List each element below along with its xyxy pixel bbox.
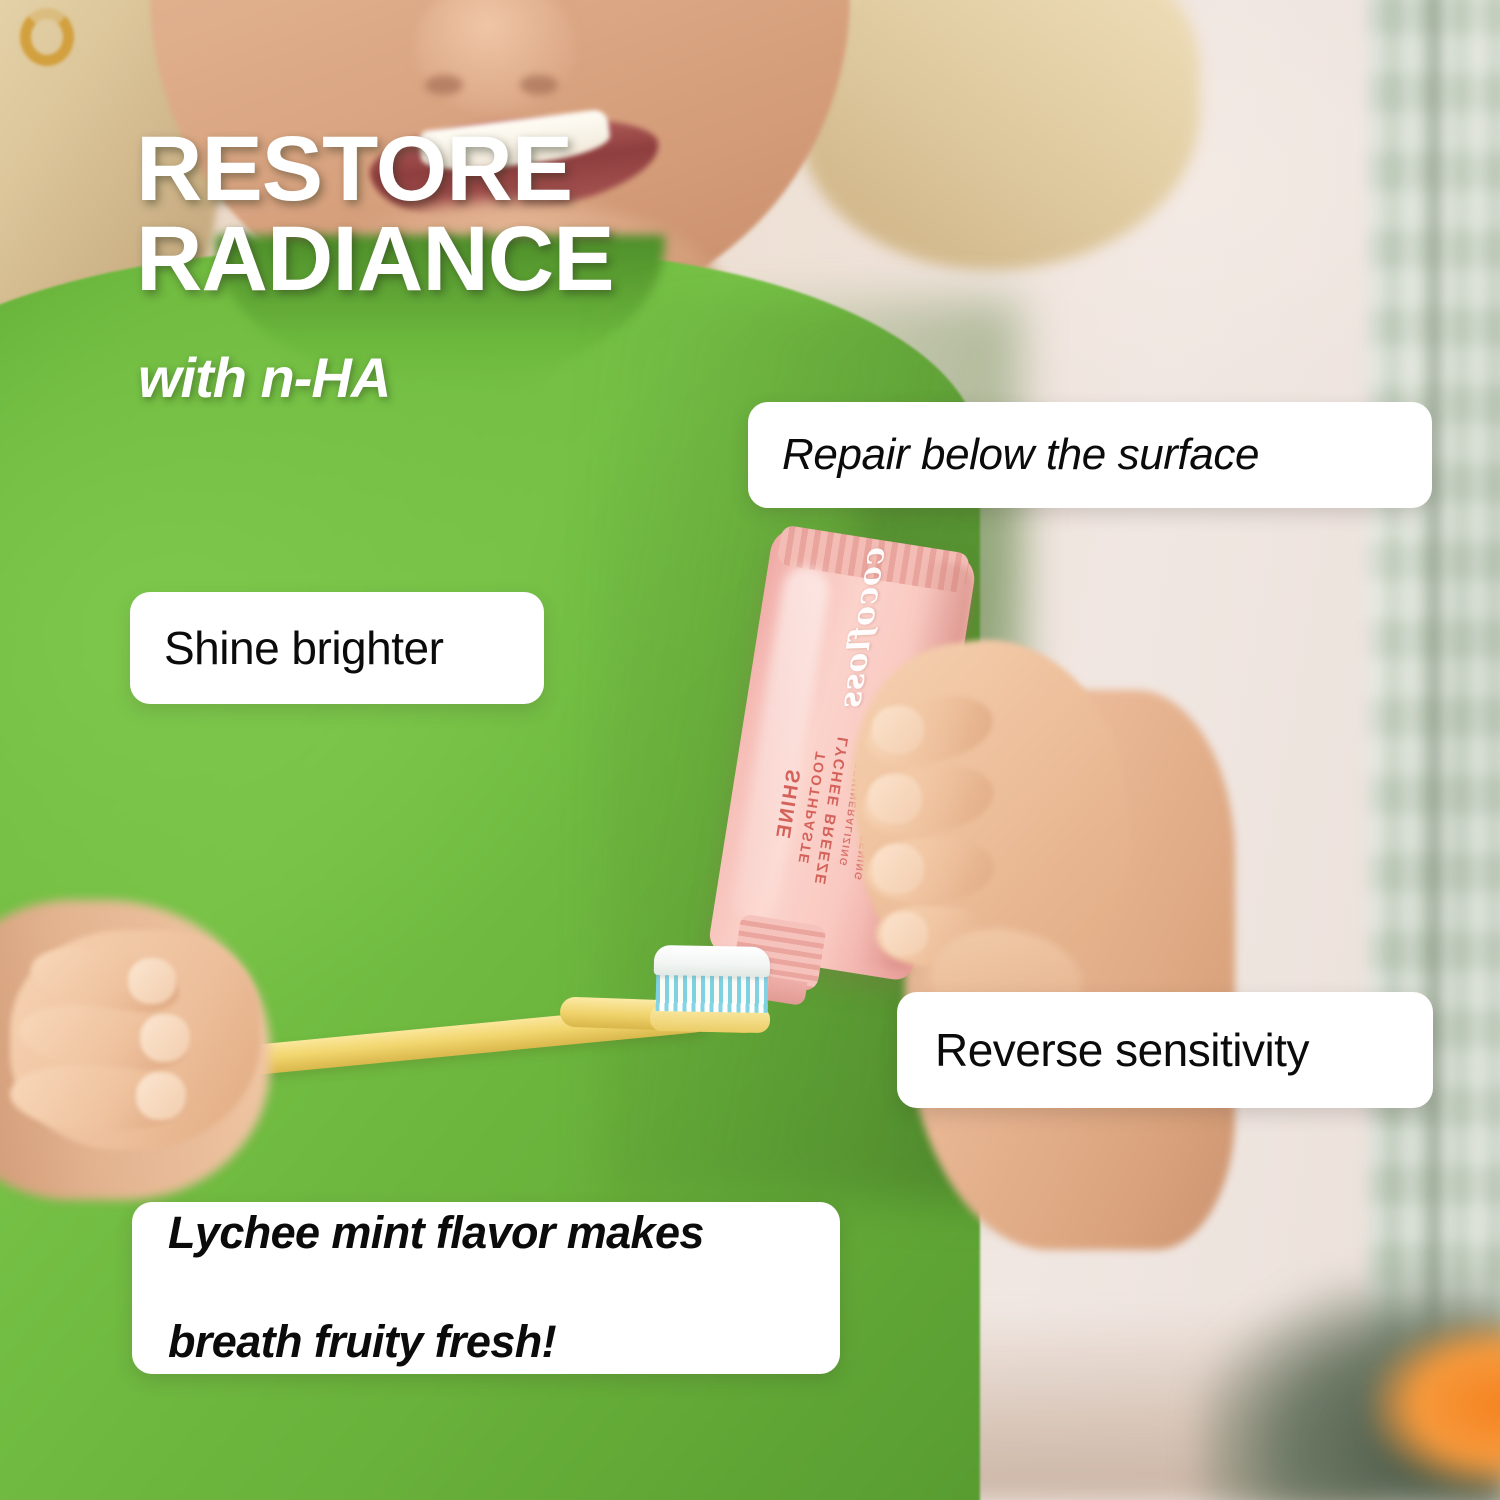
callout-text: Reverse sensitivity <box>935 1023 1395 1077</box>
hoop-earring <box>20 8 74 66</box>
callout-text-line-1: Lychee mint flavor makes <box>168 1206 804 1261</box>
callout-text-line-2: breath fruity fresh! <box>168 1315 804 1370</box>
nostril-left <box>425 75 463 95</box>
toothpaste-blob <box>654 945 771 977</box>
background-object-orange <box>1370 1320 1500 1490</box>
subheadline: with n-HA <box>138 345 390 410</box>
fingernail <box>872 844 924 894</box>
callout-shine-brighter: Shine brighter <box>130 592 544 704</box>
headline-line-2: RADIANCE <box>136 214 996 304</box>
promo-image: cocofloss SHINE TOOTHPASTE LYCHEE BREEZE… <box>0 0 1500 1500</box>
callout-reverse-sensitivity: Reverse sensitivity <box>897 992 1433 1108</box>
callout-lychee-mint-flavor: Lychee mint flavor makes breath fruity f… <box>132 1202 840 1374</box>
callout-text: Lychee mint flavor makes breath fruity f… <box>168 1206 804 1371</box>
fingernail <box>872 706 924 754</box>
fingernail <box>128 958 176 1004</box>
callout-repair-below-the-surface: Repair below the surface <box>748 402 1432 508</box>
nostril-right <box>520 75 558 95</box>
fingernail <box>136 1072 186 1120</box>
fingernail <box>882 912 928 956</box>
headline-line-1: RESTORE <box>136 124 996 214</box>
fingernail <box>140 1014 190 1062</box>
callout-text: Repair below the surface <box>782 430 1398 480</box>
headline: RESTORE RADIANCE <box>136 124 996 304</box>
towel-edge-shadow <box>1430 0 1444 1400</box>
callout-text: Shine brighter <box>164 621 510 675</box>
fingernail <box>868 774 922 824</box>
